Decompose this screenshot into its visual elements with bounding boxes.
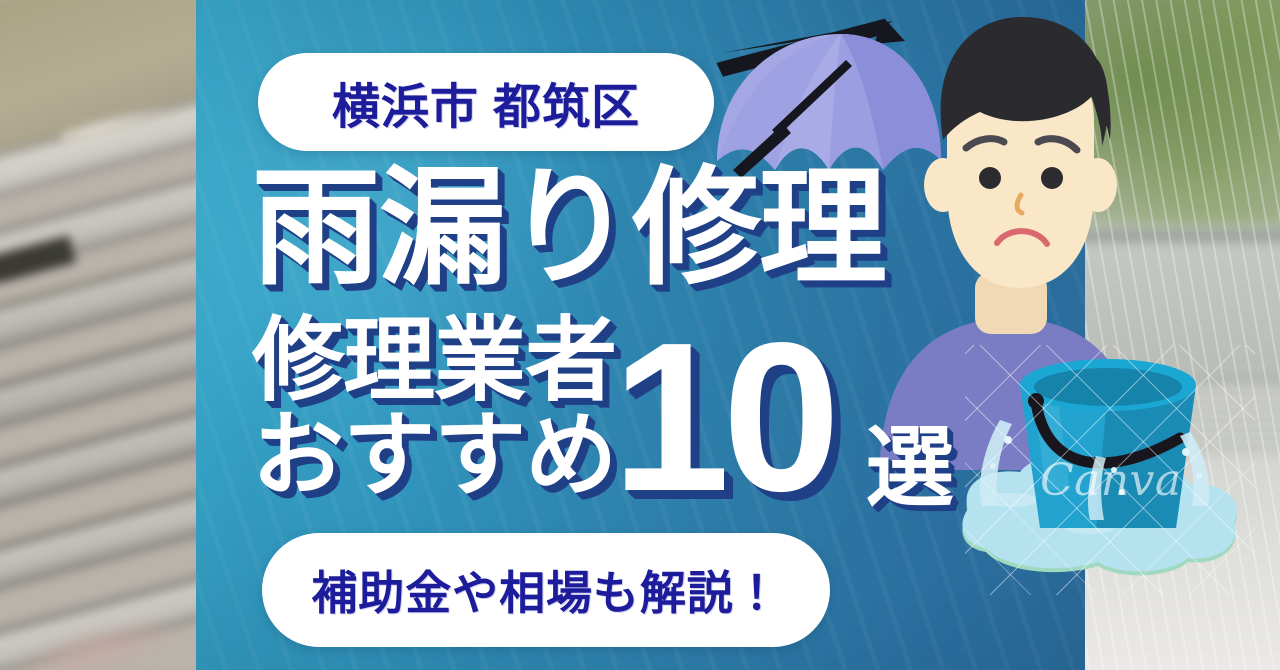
- note-pill: 補助金や相場も解説！: [262, 533, 830, 647]
- note-pill-label: 補助金や相場も解説！: [311, 557, 780, 623]
- region-pill-label: 横浜市 都筑区: [332, 67, 640, 137]
- headline-sub-line1: 修理業者: [252, 315, 616, 407]
- headline-number-unit: 選: [866, 424, 954, 512]
- headline-number: 10: [612, 311, 833, 523]
- banner-root: Canva 横浜市 都筑区 雨漏り修理 修理業者 おすすめ 10 選 補助金や相…: [0, 0, 1280, 670]
- rainy-balcony-photo: [1085, 0, 1280, 670]
- roof-tiles-photo: [0, 0, 196, 670]
- headline-sub-line2: おすすめ: [252, 410, 616, 502]
- region-pill: 横浜市 都筑区: [258, 53, 714, 151]
- headline-main: 雨漏り修理: [252, 165, 886, 293]
- rain-streaks: [1085, 0, 1280, 670]
